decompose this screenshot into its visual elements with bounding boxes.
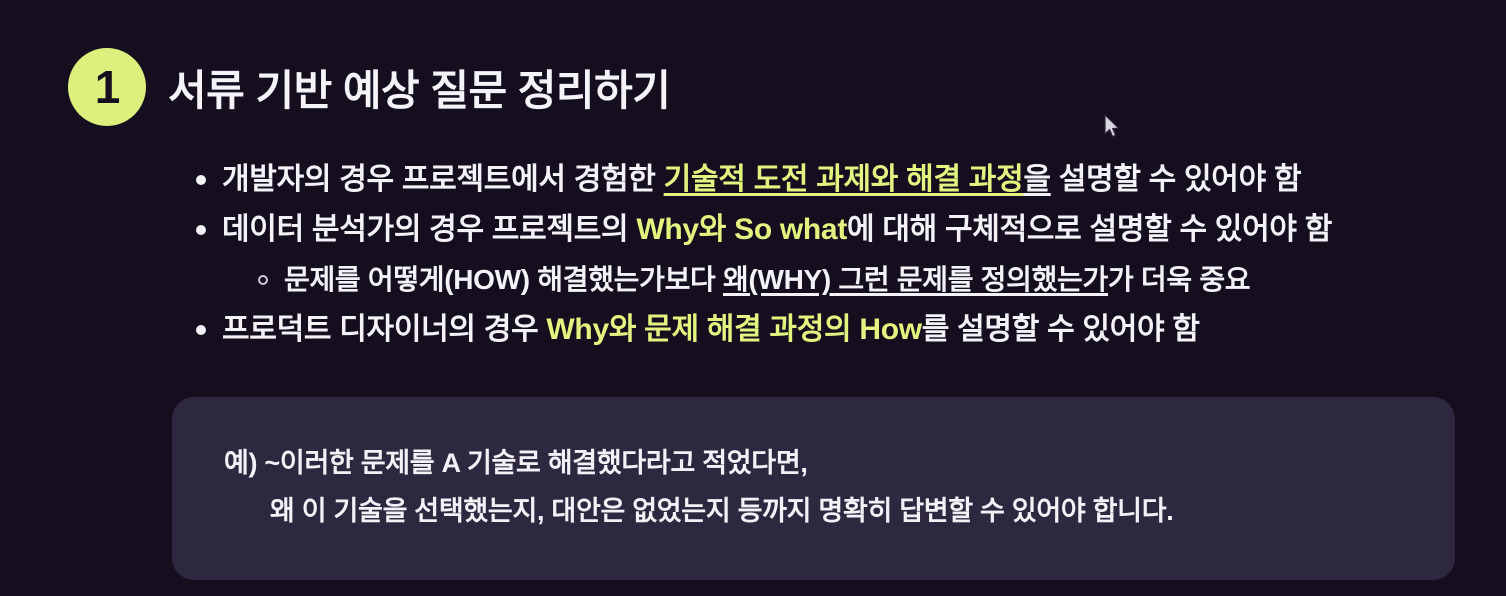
slide-header: 1 서류 기반 예상 질문 정리하기 <box>68 48 670 126</box>
step-number-badge: 1 <box>68 48 146 126</box>
text-segment: 개발자의 경우 프로젝트에서 경험한 <box>222 163 664 196</box>
list-item: 개발자의 경우 프로젝트에서 경험한 기술적 도전 과제와 해결 과정을 설명할… <box>196 155 1496 205</box>
text-segment: 가 더욱 중요 <box>1108 264 1250 295</box>
step-number-label: 1 <box>95 64 120 110</box>
text-segment: 을 <box>1023 163 1050 196</box>
text-segment: Why와 So what <box>636 213 847 246</box>
page-title: 서류 기반 예상 질문 정리하기 <box>168 57 670 118</box>
text-segment: 문제를 어떻게(HOW) 해결했는가보다 <box>284 264 723 295</box>
mouse-pointer-icon <box>1103 114 1121 140</box>
list-item-text: 문제를 어떻게(HOW) 해결했는가보다 왜(WHY) 그런 문제를 정의했는가… <box>284 255 1250 305</box>
text-segment: 기술적 도전 과제와 해결 과정 <box>664 163 1024 196</box>
bullet-disc-icon <box>196 325 206 335</box>
example-callout-box: 예) ~이러한 문제를 A 기술로 해결했다라고 적었다면,왜 이 기술을 선택… <box>172 397 1455 580</box>
text-segment: 를 설명할 수 있어야 함 <box>922 313 1200 346</box>
bullet-circle-icon <box>258 275 268 285</box>
list-item: 데이터 분석가의 경우 프로젝트의 Why와 So what에 대해 구체적으로… <box>196 205 1496 255</box>
text-segment: 왜(WHY) 그런 문제를 정의했는가 <box>723 264 1108 295</box>
bullet-disc-icon <box>196 225 206 235</box>
text-segment: 데이터 분석가의 경우 프로젝트의 <box>222 213 636 246</box>
example-line: 왜 이 기술을 선택했는지, 대안은 없었는지 등까지 명확히 답변할 수 있어… <box>224 487 1403 535</box>
text-segment: 에 대해 구체적으로 설명할 수 있어야 함 <box>847 213 1332 246</box>
list-item: 프로덕트 디자이너의 경우 Why와 문제 해결 과정의 How를 설명할 수 … <box>196 305 1496 355</box>
text-segment: 프로덕트 디자이너의 경우 <box>222 313 546 346</box>
slide-canvas: 1 서류 기반 예상 질문 정리하기 개발자의 경우 프로젝트에서 경험한 기술… <box>0 0 1506 596</box>
list-item-text: 프로덕트 디자이너의 경우 Why와 문제 해결 과정의 How를 설명할 수 … <box>222 305 1200 355</box>
bullet-list: 개발자의 경우 프로젝트에서 경험한 기술적 도전 과제와 해결 과정을 설명할… <box>196 155 1496 355</box>
list-item: 문제를 어떻게(HOW) 해결했는가보다 왜(WHY) 그런 문제를 정의했는가… <box>196 255 1496 305</box>
text-segment: 설명할 수 있어야 함 <box>1051 163 1302 196</box>
text-segment: Why와 문제 해결 과정의 How <box>546 313 921 346</box>
list-item-text: 개발자의 경우 프로젝트에서 경험한 기술적 도전 과제와 해결 과정을 설명할… <box>222 155 1301 205</box>
list-item-text: 데이터 분석가의 경우 프로젝트의 Why와 So what에 대해 구체적으로… <box>222 205 1332 255</box>
bullet-disc-icon <box>196 175 206 185</box>
example-line: 예) ~이러한 문제를 A 기술로 해결했다라고 적었다면, <box>224 439 1403 487</box>
